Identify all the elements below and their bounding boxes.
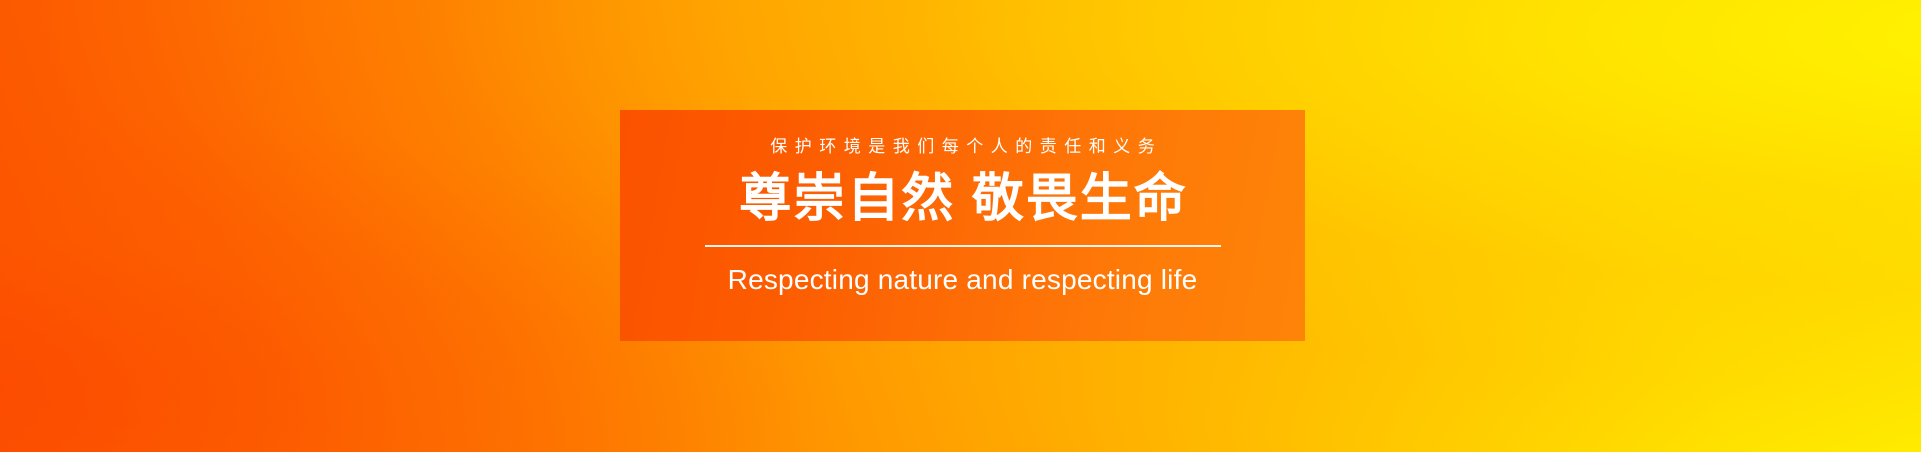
- headline-chinese: 尊崇自然 敬畏生命: [737, 173, 1187, 225]
- environment-slogan-banner: 保护环境是我们每个人的责任和义务 尊崇自然 敬畏生命 Respecting na…: [0, 0, 1921, 452]
- tagline-english: Respecting nature and respecting life: [728, 266, 1198, 294]
- horizontal-divider: [705, 245, 1221, 247]
- subtitle-chinese: 保护环境是我们每个人的责任和义务: [763, 138, 1163, 155]
- slogan-panel: 保护环境是我们每个人的责任和义务 尊崇自然 敬畏生命 Respecting na…: [620, 110, 1305, 341]
